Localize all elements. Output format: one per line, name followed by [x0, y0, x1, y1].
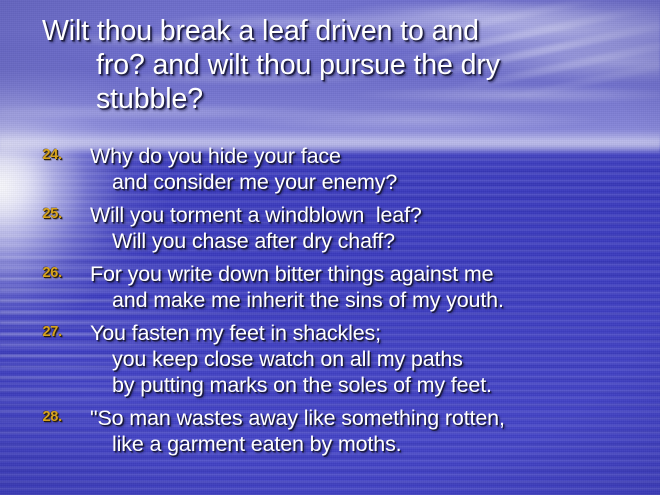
verse-text: For you write down bitter things against… — [90, 261, 660, 313]
verse-item: 26. For you write down bitter things aga… — [0, 261, 660, 313]
slide-title: Wilt thou break a leaf driven to and fro… — [42, 14, 642, 116]
verse-line: Why do you hide your face — [90, 143, 660, 169]
verse-number: 26. — [30, 265, 62, 281]
presentation-slide: Wilt thou break a leaf driven to and fro… — [0, 0, 660, 495]
verse-number: 27. — [30, 324, 62, 340]
verse-text: Why do you hide your face and consider m… — [90, 143, 660, 195]
verse-item: 27. You fasten my feet in shackles; you … — [0, 320, 660, 398]
verse-line: like a garment eaten by moths. — [90, 431, 660, 457]
title-line-1: Wilt thou break a leaf driven to and — [42, 14, 642, 48]
verse-item: 28. "So man wastes away like something r… — [0, 405, 660, 457]
verse-text: Will you torment a windblown leaf? Will … — [90, 202, 660, 254]
verse-line: "So man wastes away like something rotte… — [90, 405, 660, 431]
verse-line: Will you torment a windblown leaf? — [90, 202, 660, 228]
verse-line: For you write down bitter things against… — [90, 261, 660, 287]
verse-number: 25. — [30, 206, 62, 222]
verse-list: 24. Why do you hide your face and consid… — [0, 143, 660, 457]
verse-number: 24. — [30, 147, 62, 163]
verse-line: you keep close watch on all my paths — [90, 346, 660, 372]
verse-text: "So man wastes away like something rotte… — [90, 405, 660, 457]
verse-line: You fasten my feet in shackles; — [90, 320, 660, 346]
verse-item: 24. Why do you hide your face and consid… — [0, 143, 660, 195]
verse-text: You fasten my feet in shackles; you keep… — [90, 320, 660, 398]
title-line-3: stubble? — [42, 82, 642, 116]
verse-number: 28. — [30, 409, 62, 425]
verse-item: 25. Will you torment a windblown leaf? W… — [0, 202, 660, 254]
verse-line: by putting marks on the soles of my feet… — [90, 372, 660, 398]
verse-line: Will you chase after dry chaff? — [90, 228, 660, 254]
title-line-2: fro? and wilt thou pursue the dry — [42, 48, 642, 82]
slide-content: Wilt thou break a leaf driven to and fro… — [0, 0, 660, 495]
verse-line: and consider me your enemy? — [90, 169, 660, 195]
verse-line: and make me inherit the sins of my youth… — [90, 287, 660, 313]
